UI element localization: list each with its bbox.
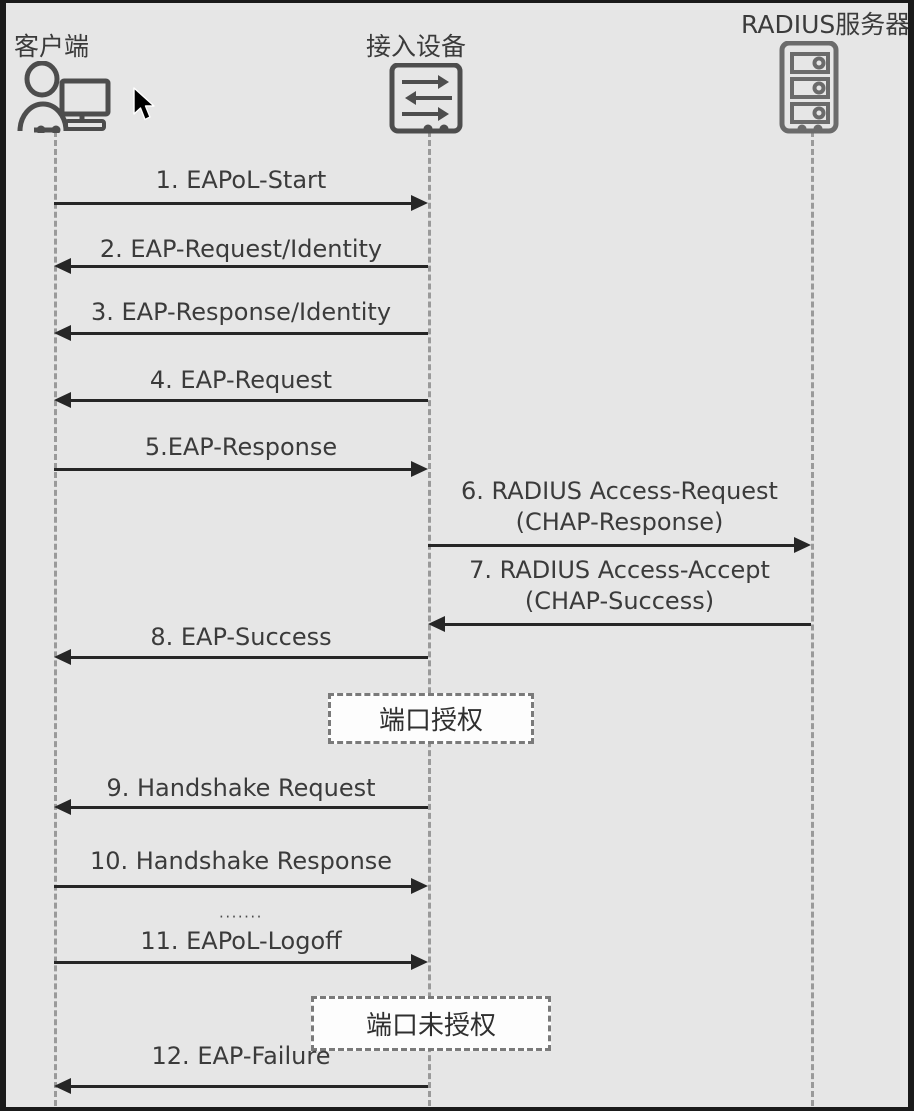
message-arrowhead-12 bbox=[54, 1078, 71, 1094]
message-label-6-line1: 6. RADIUS Access-Request bbox=[428, 476, 811, 507]
message-label-2: 2. EAP-Request/Identity bbox=[54, 234, 428, 265]
message-label-9: 9. Handshake Request bbox=[54, 773, 428, 804]
actor-label-nas: 接入设备 bbox=[366, 27, 466, 63]
message-arrowhead-9 bbox=[54, 799, 71, 815]
note-port-authorized: 端口授权 bbox=[328, 693, 534, 744]
message-line-10 bbox=[54, 885, 417, 888]
message-line-11 bbox=[54, 961, 417, 964]
message-label-7-line1: 7. RADIUS Access-Accept bbox=[428, 555, 811, 586]
ellipsis-dots: ······· bbox=[54, 908, 428, 926]
message-line-9 bbox=[65, 806, 428, 809]
message-line-6 bbox=[428, 544, 800, 547]
message-line-1 bbox=[54, 202, 417, 205]
user-computer-icon bbox=[16, 61, 126, 133]
message-arrowhead-4 bbox=[54, 392, 71, 408]
message-label-1: 1. EAPoL-Start bbox=[54, 165, 428, 196]
message-arrowhead-3 bbox=[54, 325, 71, 341]
message-label-3: 3. EAP-Response/Identity bbox=[54, 297, 428, 328]
message-label-6: 6. RADIUS Access-Request (CHAP-Response) bbox=[428, 476, 811, 538]
message-line-2 bbox=[65, 265, 428, 268]
actor-label-radius: RADIUS服务器 bbox=[741, 5, 910, 41]
message-arrowhead-10 bbox=[411, 878, 428, 894]
message-label-6-line2: (CHAP-Response) bbox=[428, 507, 811, 538]
diagram-canvas: 客户端 接入设备 bbox=[0, 0, 914, 1111]
lifeline-client bbox=[54, 131, 57, 1106]
message-line-4 bbox=[65, 399, 428, 402]
message-line-12 bbox=[65, 1085, 428, 1088]
mouse-cursor bbox=[132, 87, 158, 127]
message-line-3 bbox=[65, 332, 428, 335]
message-label-4: 4. EAP-Request bbox=[54, 365, 428, 396]
server-rack-icon bbox=[776, 41, 848, 135]
message-label-5: 5.EAP-Response bbox=[54, 432, 428, 463]
message-line-5 bbox=[54, 468, 417, 471]
message-label-11: 11. EAPoL-Logoff bbox=[54, 926, 428, 957]
message-label-8: 8. EAP-Success bbox=[54, 622, 428, 653]
message-arrowhead-2 bbox=[54, 258, 71, 274]
message-label-12: 12. EAP-Failure bbox=[54, 1041, 428, 1072]
message-line-7 bbox=[439, 623, 811, 626]
message-arrowhead-1 bbox=[411, 195, 428, 211]
message-line-8 bbox=[65, 656, 428, 659]
message-label-7-line2: (CHAP-Success) bbox=[428, 586, 811, 617]
message-arrowhead-6 bbox=[794, 537, 811, 553]
message-arrowhead-11 bbox=[411, 954, 428, 970]
message-arrowhead-5 bbox=[411, 461, 428, 477]
message-arrowhead-7 bbox=[428, 616, 445, 632]
lifeline-radius bbox=[811, 131, 814, 1106]
message-arrowhead-8 bbox=[54, 649, 71, 665]
actor-label-client: 客户端 bbox=[14, 27, 89, 63]
message-label-10: 10. Handshake Response bbox=[54, 846, 428, 877]
switch-icon bbox=[388, 63, 468, 135]
message-label-7: 7. RADIUS Access-Accept (CHAP-Success) bbox=[428, 555, 811, 617]
